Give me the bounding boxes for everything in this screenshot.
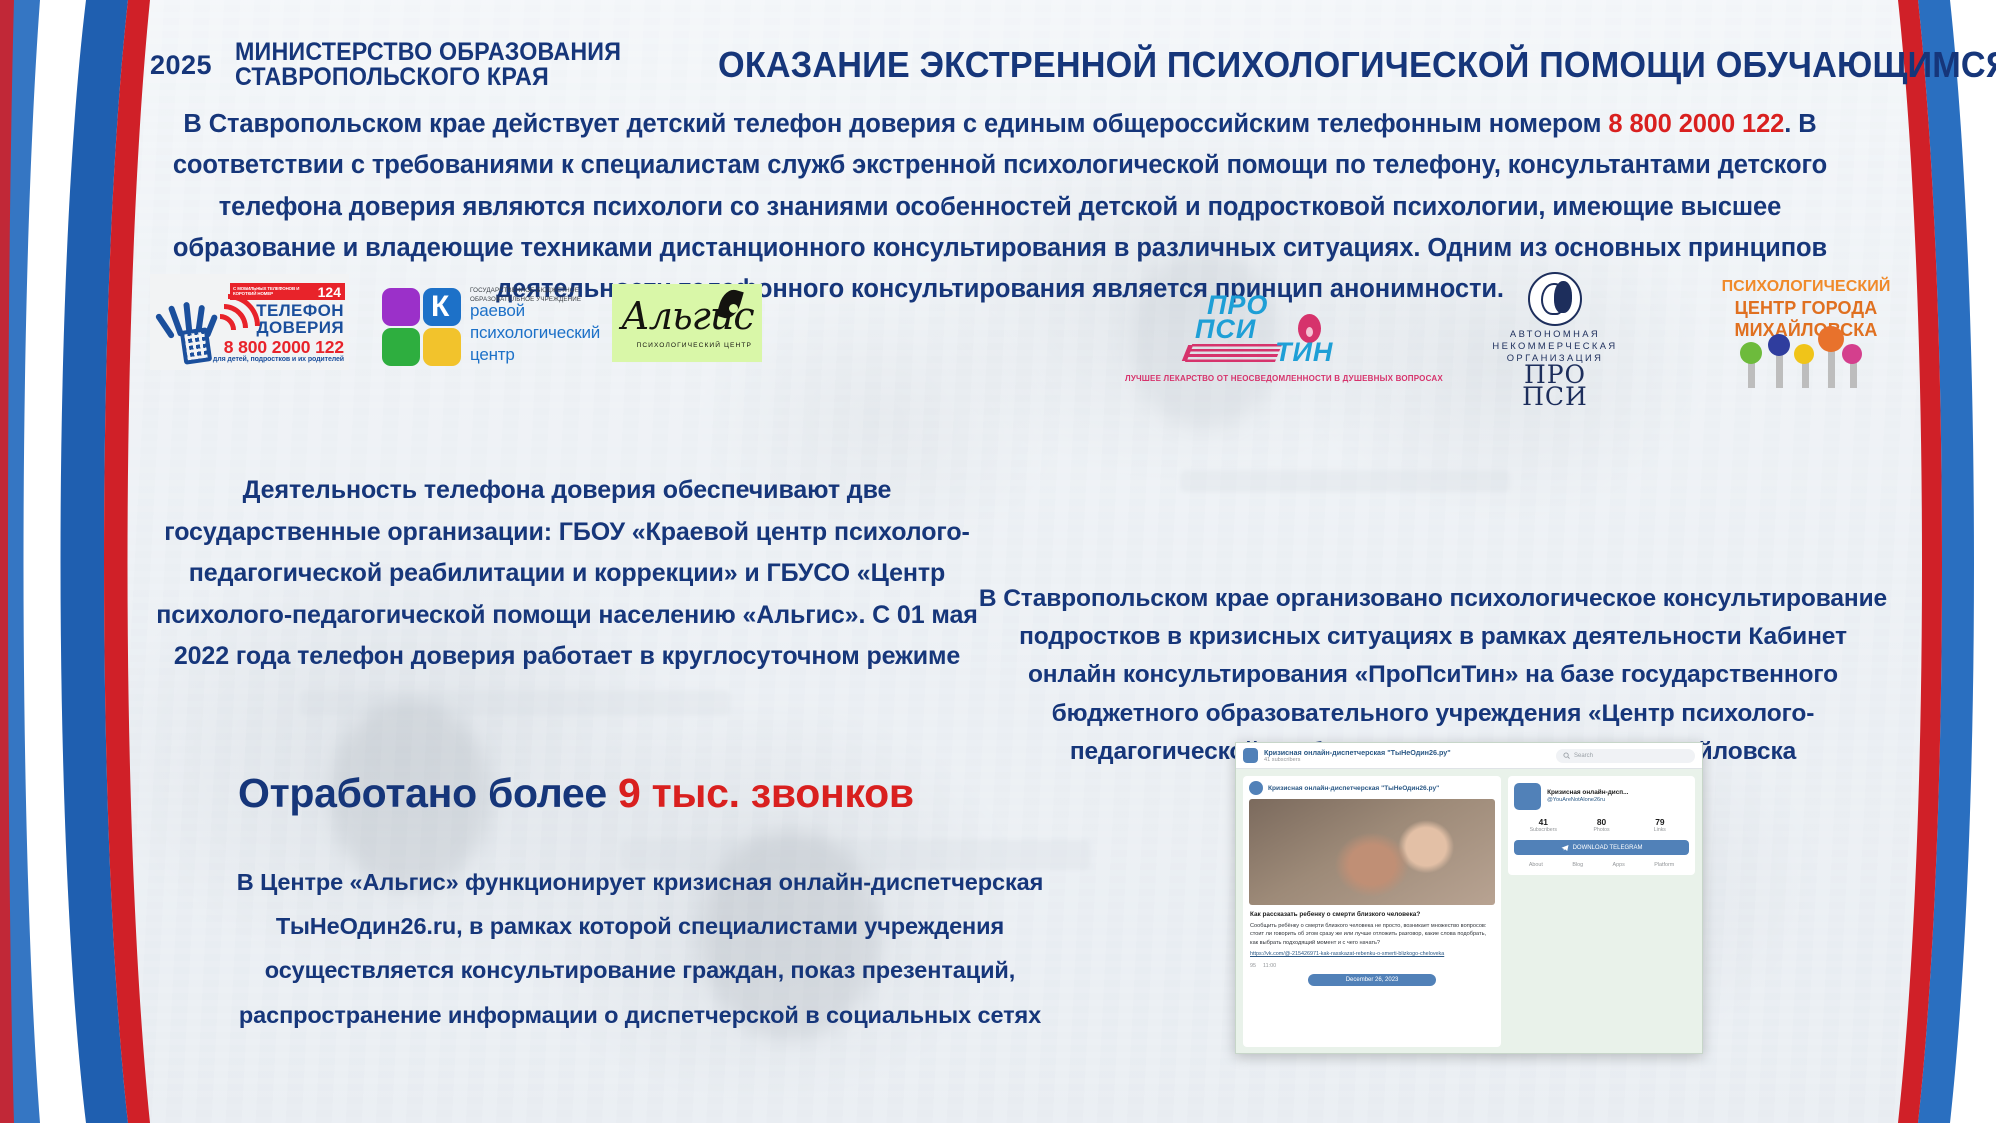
vk-profile-name: Кризисная онлайн-дисп... xyxy=(1547,789,1628,797)
badge-small-text: С МОБИЛЬНЫХ ТЕЛЕФОНОВ И КОРОТКИЙ НОМЕР xyxy=(230,287,318,297)
letter-k: К xyxy=(431,292,449,322)
propsitin-slogan: ЛУЧШЕЕ ЛЕКАРСТВО ОТ НЕОСВЕДОМЛЕННОСТИ В … xyxy=(1125,374,1443,383)
logo-line-3: ТИН xyxy=(1275,337,1333,368)
logo-line-2: НЕКОММЕРЧЕСКАЯ xyxy=(1450,340,1660,351)
head-filled-icon xyxy=(1554,281,1572,313)
logo-big-line-2: ПСИ xyxy=(1450,382,1660,411)
stat-prefix: Отработано более xyxy=(238,770,618,816)
bottom-body-text: В Центре «Альгис» функционирует кризисна… xyxy=(190,860,1090,1037)
vk-body: Кризисная онлайн-диспетчерская "ТыНеОдин… xyxy=(1236,769,1702,1054)
logo-tagline: для детей, подростков и их родителей xyxy=(213,356,344,363)
vk-stat-2-value: 80 xyxy=(1572,817,1630,827)
year-label: 2025 xyxy=(150,50,212,81)
ministry-line-1: МИНИСТЕРСТВО ОБРАЗОВАНИЯ xyxy=(235,40,621,66)
vk-stat-3-value: 79 xyxy=(1631,817,1689,827)
vk-post-meta: 95 11:00 xyxy=(1243,959,1501,974)
page-title: ОКАЗАНИЕ ЭКСТРЕННОЙ ПСИХОЛОГИЧЕСКОЙ ПОМО… xyxy=(718,44,1996,86)
logo-line-1: ПСИХОЛОГИЧЕСКИЙ xyxy=(1706,278,1906,296)
search-icon xyxy=(1563,752,1570,759)
vk-profile-avatar xyxy=(1514,783,1541,810)
right-tricolor-bar xyxy=(1846,0,1996,1123)
vk-stat-subscribers: 41 Subscribers xyxy=(1514,817,1572,833)
vk-stat-links: 79 Links xyxy=(1631,817,1689,833)
logo-line-3: центр xyxy=(470,345,515,365)
logo-propsitin: ПРО ПСИ ТИН ЛУЧШЕЕ ЛЕКАРСТВО ОТ НЕОСВЕДО… xyxy=(1185,290,1365,370)
logo-ano-propsi: АВТОНОМНАЯ НЕКОММЕРЧЕСКАЯ ОРГАНИЗАЦИЯ ПР… xyxy=(1450,272,1660,382)
vk-community-title: Кризисная онлайн-диспетчерская "ТыНеОдин… xyxy=(1264,748,1451,757)
vk-screenshot-card: Кризисная онлайн-диспетчерская "ТыНеОдин… xyxy=(1235,742,1703,1054)
ministry-line-2: СТАВРОПОЛЬСКОГО КРАЯ xyxy=(235,65,621,91)
vk-post-question: Как рассказать ребенку о смерти близкого… xyxy=(1250,911,1494,918)
presentation-slide: 2025 МИНИСТЕРСТВО ОБРАЗОВАНИЯ СТАВРОПОЛЬ… xyxy=(0,0,1996,1123)
vk-post-body: Сообщить ребёнку о смерти близкого челов… xyxy=(1250,922,1494,947)
vk-profile-header: Кризисная онлайн-дисп... @YouAreNotAlone… xyxy=(1514,783,1689,810)
logo-telefon-doveriya: С МОБИЛЬНЫХ ТЕЛЕФОНОВ И КОРОТКИЙ НОМЕР 1… xyxy=(150,274,349,370)
logo-line-2: ЦЕНТР ГОРОДА xyxy=(1706,298,1906,319)
vk-footer-links: About Blog Apps Platform xyxy=(1514,862,1689,868)
intro-text-part1: В Ставропольском крае действует детский … xyxy=(183,110,1608,138)
logo-line-2: ДОВЕРИЯ xyxy=(256,318,344,338)
green-square-icon xyxy=(382,328,420,366)
logo-line-1: АВТОНОМНАЯ xyxy=(1450,328,1660,339)
logo-phone-number: 8 800 2000 122 xyxy=(224,337,344,358)
logo-algis: Альгис ПСИХОЛОГИЧЕСКИЙ ЦЕНТР xyxy=(612,284,762,362)
download-telegram-button[interactable]: DOWNLOAD TELEGRAM xyxy=(1514,840,1689,855)
purple-square-icon xyxy=(382,288,420,326)
badge-number: 124 xyxy=(318,284,341,300)
vk-post-header: Кризисная онлайн-диспетчерская "ТыНеОдин… xyxy=(1243,776,1501,799)
vk-link-apps[interactable]: Apps xyxy=(1613,862,1625,868)
vk-post-author: Кризисная онлайн-диспетчерская "ТыНеОдин… xyxy=(1268,785,1439,792)
hotline-number: 8 800 2000 122 xyxy=(1608,110,1784,138)
vk-link-blog[interactable]: Blog xyxy=(1572,862,1583,868)
vk-link-about[interactable]: About xyxy=(1529,862,1543,868)
vk-post-views: 95 xyxy=(1250,963,1256,969)
vk-post[interactable]: Кризисная онлайн-диспетчерская "ТыНеОдин… xyxy=(1243,776,1501,1047)
vk-post-avatar xyxy=(1249,781,1263,795)
vk-search-placeholder: Search xyxy=(1574,753,1593,759)
leaf-highlight-icon xyxy=(729,304,738,313)
vk-link-platform[interactable]: Platform xyxy=(1654,862,1674,868)
download-telegram-label: DOWNLOAD TELEGRAM xyxy=(1573,845,1643,851)
vk-post-link[interactable]: https://vk.com/@-215426971-kak-rasskazat… xyxy=(1250,951,1494,959)
calls-statistic: Отработано более 9 тыс. звонков xyxy=(238,770,998,817)
vk-profile-names: Кризисная онлайн-дисп... @YouAreNotAlone… xyxy=(1547,789,1628,805)
vk-subscriber-count: 41 subscribers xyxy=(1264,757,1451,764)
vk-stat-photos: 80 Photos xyxy=(1572,817,1630,833)
logo-line-3: МИХАЙЛОВСКА xyxy=(1706,320,1906,341)
logo-line-1: раевой xyxy=(470,301,525,321)
stat-value: 9 тыс. звонков xyxy=(618,770,914,816)
logo-line-2: ПСИ xyxy=(1195,314,1256,345)
vk-stat-1-value: 41 xyxy=(1514,817,1572,827)
logo-centr-mihaylovska: ПСИХОЛОГИЧЕСКИЙ ЦЕНТР ГОРОДА МИХАЙЛОВСКА xyxy=(1706,278,1906,372)
vk-post-text: Как рассказать ребенку о смерти близкого… xyxy=(1243,905,1501,959)
vk-post-time: 11:00 xyxy=(1263,963,1276,969)
vk-profile-card: Кризисная онлайн-дисп... @YouAreNotAlone… xyxy=(1508,776,1695,875)
telegram-icon xyxy=(1561,844,1569,852)
logo-kraevoy-centr: К ГОСУДАРСТВЕННОЕ БЮДЖЕТНОЕ ОБРАЗОВАТЕЛЬ… xyxy=(382,282,597,368)
vk-profile-handle: @YouAreNotAlone26ru xyxy=(1547,797,1628,804)
vk-post-photo xyxy=(1249,799,1495,905)
partner-logos-strip: С МОБИЛЬНЫХ ТЕЛЕФОНОВ И КОРОТКИЙ НОМЕР 1… xyxy=(150,272,1862,378)
vk-stat-2-label: Photos xyxy=(1572,827,1630,833)
short-number-badge: С МОБИЛЬНЫХ ТЕЛЕФОНОВ И КОРОТКИЙ НОМЕР 1… xyxy=(230,283,345,300)
vk-profile-stats: 41 Subscribers 80 Photos 79 Links xyxy=(1514,817,1689,833)
vk-sidebar: Кризисная онлайн-дисп... @YouAreNotAlone… xyxy=(1508,776,1695,1047)
yellow-square-icon xyxy=(423,328,461,366)
vk-topbar-text: Кризисная онлайн-диспетчерская "ТыНеОдин… xyxy=(1264,748,1451,764)
vk-date-badge: December 26, 2023 xyxy=(1308,974,1436,986)
vk-search-input[interactable]: Search xyxy=(1556,749,1695,763)
micro-line-1: ГОСУДАРСТВЕННОЕ БЮДЖЕТНОЕ xyxy=(470,286,581,295)
head-profile-icon xyxy=(1528,272,1582,326)
vk-community-avatar xyxy=(1243,748,1258,763)
algis-subtitle: ПСИХОЛОГИЧЕСКИЙ ЦЕНТР xyxy=(636,342,752,349)
logo-line-2: психологический xyxy=(470,323,600,343)
left-body-text: Деятельность телефона доверия обеспечива… xyxy=(152,470,982,678)
lollipop-figures-icon xyxy=(1732,342,1872,388)
pink-stripes-icon xyxy=(1185,342,1283,362)
slide-header: 2025 МИНИСТЕРСТВО ОБРАЗОВАНИЯ СТАВРОПОЛЬ… xyxy=(150,34,1896,96)
vk-stat-1-label: Subscribers xyxy=(1514,827,1572,833)
ministry-name: МИНИСТЕРСТВО ОБРАЗОВАНИЯ СТАВРОПОЛЬСКОГО… xyxy=(235,40,650,91)
vk-topbar: Кризисная онлайн-диспетчерская "ТыНеОдин… xyxy=(1236,743,1702,769)
vk-stat-3-label: Links xyxy=(1631,827,1689,833)
